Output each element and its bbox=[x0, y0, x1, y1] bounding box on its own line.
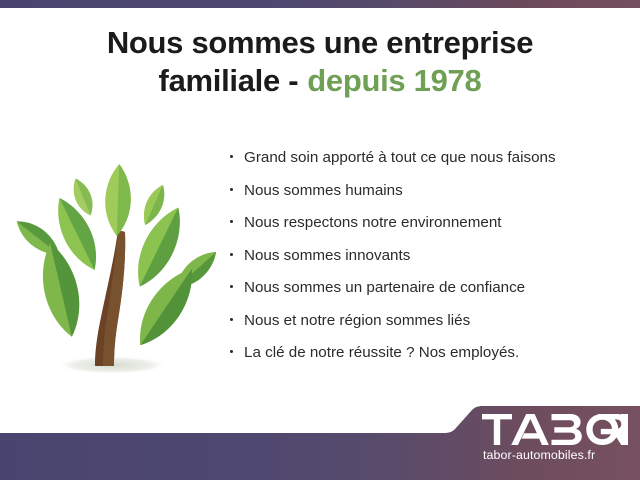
bullet-dot-icon bbox=[230, 245, 244, 256]
benefits-list: Grand soin apporté à tout ce que nous fa… bbox=[230, 147, 630, 375]
list-item: Nous sommes humains bbox=[230, 180, 630, 202]
headline-accent-year: depuis 1978 bbox=[307, 63, 481, 98]
bullet-dot-icon bbox=[230, 180, 244, 191]
list-item-label: Nous respectons notre environnement bbox=[244, 212, 630, 234]
list-item: Nous sommes innovants bbox=[230, 245, 630, 267]
bullet-dot-icon bbox=[230, 310, 244, 321]
brand-logo[interactable]: tabor-automobiles.fr bbox=[482, 414, 632, 462]
headline-line-2: familiale -depuis 1978 bbox=[0, 62, 640, 100]
list-item: Grand soin apporté à tout ce que nous fa… bbox=[230, 147, 630, 169]
bullet-dot-icon bbox=[230, 342, 244, 353]
list-item-label: Grand soin apporté à tout ce que nous fa… bbox=[244, 147, 630, 169]
tree-trunk bbox=[95, 230, 125, 366]
list-item-label: Nous sommes humains bbox=[244, 180, 630, 202]
bullet-dot-icon bbox=[230, 147, 244, 158]
list-item-label: Nous et notre région sommes liés bbox=[244, 310, 630, 332]
slide-canvas: Nous sommes une entreprise familiale -de… bbox=[0, 0, 640, 480]
brand-tagline: tabor-automobiles.fr bbox=[483, 448, 632, 462]
brand-wordmark bbox=[482, 414, 632, 445]
page-title: Nous sommes une entreprise familiale -de… bbox=[0, 24, 640, 100]
list-item: Nous et notre région sommes liés bbox=[230, 310, 630, 332]
list-item: Nous sommes un partenaire de confiance bbox=[230, 277, 630, 299]
headline-line-2-prefix: familiale - bbox=[159, 63, 299, 98]
bullet-dot-icon bbox=[230, 277, 244, 288]
tree-leaf bbox=[104, 164, 132, 237]
top-accent-bar bbox=[0, 0, 640, 8]
list-item-label: La clé de notre réussite ? Nos employés. bbox=[244, 342, 630, 364]
list-item-label: Nous sommes innovants bbox=[244, 245, 630, 267]
list-item: La clé de notre réussite ? Nos employés. bbox=[230, 342, 630, 364]
list-item: Nous respectons notre environnement bbox=[230, 212, 630, 234]
tree-illustration bbox=[14, 152, 219, 387]
headline-line-1: Nous sommes une entreprise bbox=[0, 24, 640, 62]
list-item-label: Nous sommes un partenaire de confiance bbox=[244, 277, 630, 299]
bullet-dot-icon bbox=[230, 212, 244, 223]
